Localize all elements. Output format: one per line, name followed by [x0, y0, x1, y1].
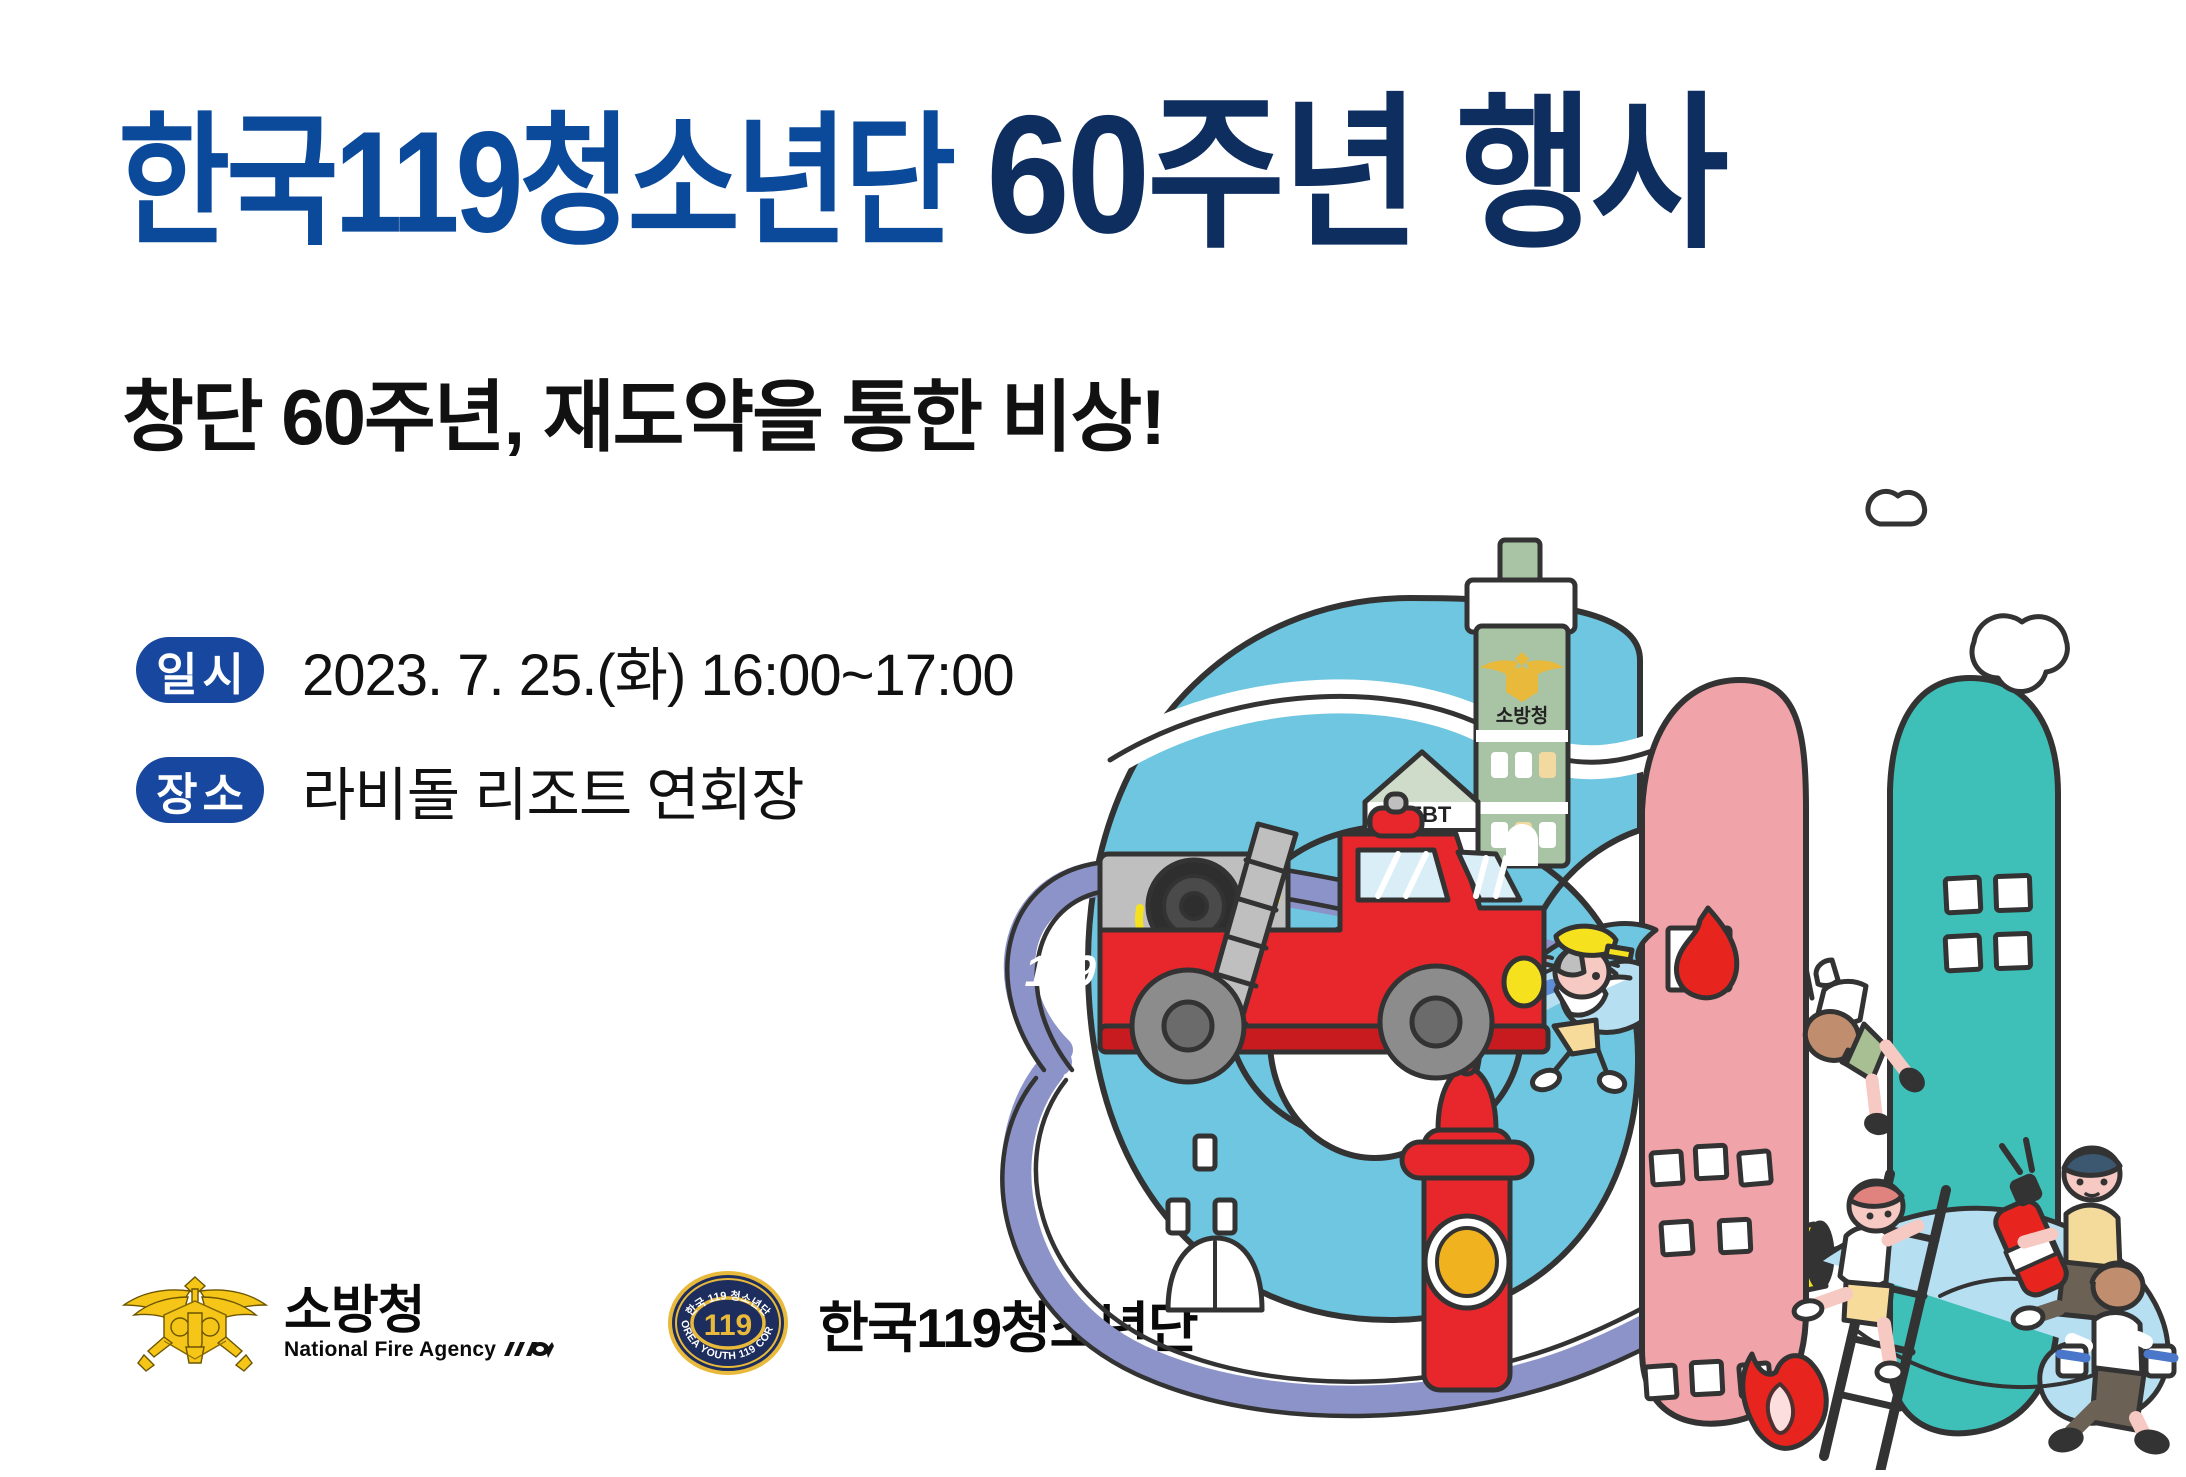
nfa-119-mark-icon [502, 1340, 554, 1362]
svg-text:119: 119 [704, 1309, 752, 1342]
nfa-korean-name: 소방청 [284, 1284, 425, 1339]
badge-venue-label: 장소 [136, 757, 264, 823]
station-label: 소방청 [1496, 705, 1548, 727]
title-part-anniversary: 60주년 행사 [986, 90, 1726, 258]
bottom-flame [1743, 1354, 1826, 1448]
fire-truck-119-label: 119 [1020, 947, 1101, 995]
cloud-small [1868, 491, 1925, 524]
nfa-english-line: National Fire Agency [284, 1338, 554, 1362]
poster-canvas: 한국119청소년단 60주년 행사 창단 60주년, 재도약을 통한 비상! 일… [0, 0, 2186, 1477]
digit-zero-pink [1642, 680, 1806, 1424]
fire-station-building: 소방청 [1467, 540, 1575, 866]
page-title: 한국119청소년단 60주년 행사 [118, 108, 1726, 258]
info-value-venue: 라비돌 리조트 연회장 [302, 748, 803, 832]
info-row-venue: 장소 라비돌 리조트 연회장 [136, 748, 1014, 832]
title-part-organization: 한국119청소년단 [118, 110, 952, 254]
sixty-anniversary-illustration: 소방청 CFBT [940, 430, 2186, 1470]
info-value-date: 2023. 7. 25.(화) 16:00~17:00 [302, 628, 1014, 712]
info-row-date: 일시 2023. 7. 25.(화) 16:00~17:00 [136, 628, 1014, 712]
national-fire-agency-logo: 소방청 National Fire Agency [120, 1269, 554, 1377]
fire-agency-eagle-emblem-icon [120, 1269, 270, 1377]
event-info-block: 일시 2023. 7. 25.(화) 16:00~17:00 장소 라비돌 리조… [136, 628, 1014, 868]
nfa-english-name: National Fire Agency [284, 1338, 496, 1362]
korea-youth-119-corps-badge-icon: 한국 119 청소년단 KOREA YOUTH 119 CORPS 119 [664, 1259, 792, 1387]
nfa-wordmark: 소방청 National Fire Agency [284, 1284, 554, 1363]
badge-date-label: 일시 [136, 637, 264, 703]
